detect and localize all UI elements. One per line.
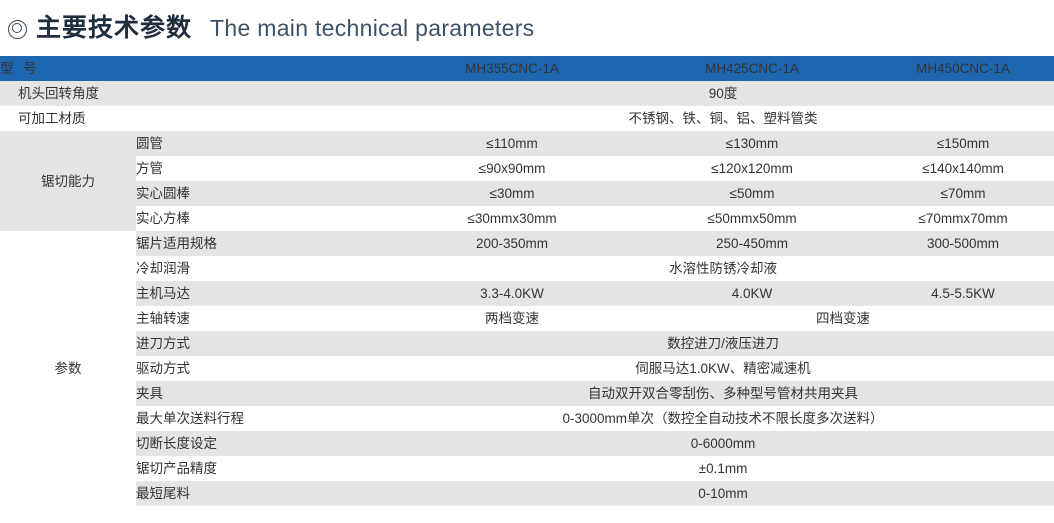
row-value-2: ≤120x120mm — [632, 156, 872, 181]
row-value-2: ≤50mmx50mm — [632, 206, 872, 231]
row-value-merged: 0-6000mm — [392, 431, 1054, 456]
page-title-cn: 主要技术参数 — [36, 16, 192, 41]
spec-table: 型 号MH355CNC-1AMH425CNC-1AMH450CNC-1A机头回转… — [0, 56, 1054, 506]
row-sublabel: 实心方棒 — [136, 206, 392, 231]
double-circle-icon — [8, 20, 27, 39]
row-sublabel: 方管 — [136, 156, 392, 181]
row-value-3: ≤70mmx70mm — [872, 206, 1054, 231]
table-row: 实心圆棒≤30mm≤50mm≤70mm — [0, 181, 1054, 206]
row-value-merged: 水溶性防锈冷却液 — [392, 256, 1054, 281]
table-header-row: 型 号MH355CNC-1AMH425CNC-1AMH450CNC-1A — [0, 56, 1054, 81]
table-row: 锯切产品精度±0.1mm — [0, 456, 1054, 481]
page-title-en: The main technical parameters — [210, 17, 534, 40]
table-row: 可加工材质不锈钢、铁、铜、铝、塑料管类 — [0, 106, 1054, 131]
table-row: 锯切能力圆管≤110mm≤130mm≤150mm — [0, 131, 1054, 156]
row-value-merged: 0-3000mm单次（数控全自动技术不限长度多次送料） — [392, 406, 1054, 431]
table-row: 进刀方式数控进刀/液压进刀 — [0, 331, 1054, 356]
table-row: 实心方棒≤30mmx30mm≤50mmx50mm≤70mmx70mm — [0, 206, 1054, 231]
row-sublabel: 锯切产品精度 — [136, 456, 392, 481]
row-sublabel: 最大单次送料行程 — [136, 406, 392, 431]
row-sublabel: 切断长度设定 — [136, 431, 392, 456]
header-model-1: MH355CNC-1A — [392, 56, 632, 81]
row-label: 可加工材质 — [0, 106, 392, 131]
header-model-label: 型 号 — [0, 56, 392, 81]
row-value-merged: 0-10mm — [392, 481, 1054, 506]
row-sublabel: 主轴转速 — [136, 306, 392, 331]
row-value-merged: 自动双开双合零刮伤、多种型号管材共用夹具 — [392, 381, 1054, 406]
group-label-saw-capacity: 锯切能力 — [0, 131, 136, 231]
table-row: 切断长度设定0-6000mm — [0, 431, 1054, 456]
row-sublabel: 进刀方式 — [136, 331, 392, 356]
row-sublabel: 驱动方式 — [136, 356, 392, 381]
group-label-parameters: 参数 — [0, 231, 136, 506]
row-sublabel: 夹具 — [136, 381, 392, 406]
row-value-merged: 90度 — [392, 81, 1054, 106]
table-row: 参数锯片适用规格200-350mm250-450mm300-500mm — [0, 231, 1054, 256]
spec-page: 主要技术参数 The main technical parameters 型 号… — [0, 0, 1054, 523]
row-sublabel: 实心圆棒 — [136, 181, 392, 206]
row-value-2: ≤50mm — [632, 181, 872, 206]
row-value-3: 4.5-5.5KW — [872, 281, 1054, 306]
row-sublabel: 锯片适用规格 — [136, 231, 392, 256]
spec-table-body: 型 号MH355CNC-1AMH425CNC-1AMH450CNC-1A机头回转… — [0, 56, 1054, 506]
row-value-1: ≤30mm — [392, 181, 632, 206]
row-value-2: 4.0KW — [632, 281, 872, 306]
row-value-3: ≤70mm — [872, 181, 1054, 206]
table-row: 机头回转角度90度 — [0, 81, 1054, 106]
table-row: 夹具自动双开双合零刮伤、多种型号管材共用夹具 — [0, 381, 1054, 406]
table-row: 最大单次送料行程0-3000mm单次（数控全自动技术不限长度多次送料） — [0, 406, 1054, 431]
table-row: 方管≤90x90mm≤120x120mm≤140x140mm — [0, 156, 1054, 181]
table-row: 主轴转速两档变速四档变速 — [0, 306, 1054, 331]
table-row: 主机马达3.3-4.0KW4.0KW4.5-5.5KW — [0, 281, 1054, 306]
row-value-1: ≤110mm — [392, 131, 632, 156]
row-value-3: ≤150mm — [872, 131, 1054, 156]
row-value-3: 300-500mm — [872, 231, 1054, 256]
page-title: 主要技术参数 The main technical parameters — [0, 0, 1054, 56]
header-model-2: MH425CNC-1A — [632, 56, 872, 81]
row-value-merged: 数控进刀/液压进刀 — [392, 331, 1054, 356]
row-value-1: 3.3-4.0KW — [392, 281, 632, 306]
row-value-3: ≤140x140mm — [872, 156, 1054, 181]
row-value-1: 两档变速 — [392, 306, 632, 331]
row-value-2: ≤130mm — [632, 131, 872, 156]
row-value-merged: 不锈钢、铁、铜、铝、塑料管类 — [392, 106, 1054, 131]
row-value-merged: 伺服马达1.0KW、精密减速机 — [392, 356, 1054, 381]
row-sublabel: 最短尾料 — [136, 481, 392, 506]
row-value-1: 200-350mm — [392, 231, 632, 256]
row-label: 机头回转角度 — [0, 81, 392, 106]
header-model-3: MH450CNC-1A — [872, 56, 1054, 81]
row-value-1: ≤90x90mm — [392, 156, 632, 181]
row-sublabel: 圆管 — [136, 131, 392, 156]
row-sublabel: 主机马达 — [136, 281, 392, 306]
row-value-2: 四档变速 — [632, 306, 1054, 331]
table-row: 驱动方式伺服马达1.0KW、精密减速机 — [0, 356, 1054, 381]
row-value-1: ≤30mmx30mm — [392, 206, 632, 231]
table-row: 冷却润滑水溶性防锈冷却液 — [0, 256, 1054, 281]
table-row: 最短尾料0-10mm — [0, 481, 1054, 506]
row-value-merged: ±0.1mm — [392, 456, 1054, 481]
row-value-2: 250-450mm — [632, 231, 872, 256]
row-sublabel: 冷却润滑 — [136, 256, 392, 281]
